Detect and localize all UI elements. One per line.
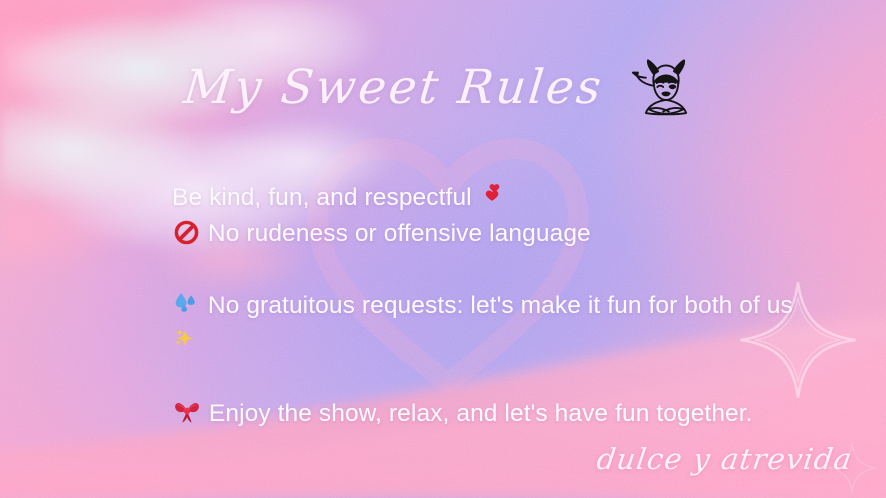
devil-girl-icon: [630, 52, 702, 122]
rule-text-1: Be kind, fun, and respectful: [172, 184, 479, 211]
signature-watermark: dulce y atrevida: [594, 442, 854, 476]
prohibited-emoji: [174, 220, 199, 245]
rule-item-3: No gratuitous requests: let's make it fu…: [172, 288, 822, 360]
rule-item-2: No rudeness or offensive language: [172, 216, 822, 252]
two-hearts-emoji: [481, 183, 507, 209]
card-content: My Sweet Rules: [0, 0, 886, 498]
sparkles-emoji: [174, 328, 199, 353]
title-row: My Sweet Rules: [0, 52, 886, 122]
sweat-droplets-emoji: [174, 292, 199, 317]
page-title: My Sweet Rules: [182, 60, 607, 115]
rule-text-3: No gratuitous requests: let's make it fu…: [201, 292, 793, 319]
rule-item-1: Be kind, fun, and respectful No rudeness…: [172, 180, 822, 432]
rules-list: Be kind, fun, and respectful No rudeness…: [172, 180, 822, 432]
rule-text-4: Enjoy the show, relax, and let's have fu…: [202, 400, 753, 427]
ribbon-bow-emoji: [174, 399, 200, 425]
rule-item-4: Enjoy the show, relax, and let's have fu…: [172, 396, 822, 432]
rule-text-2: No rudeness or offensive language: [201, 220, 591, 247]
rules-card: My Sweet Rules: [0, 0, 886, 498]
